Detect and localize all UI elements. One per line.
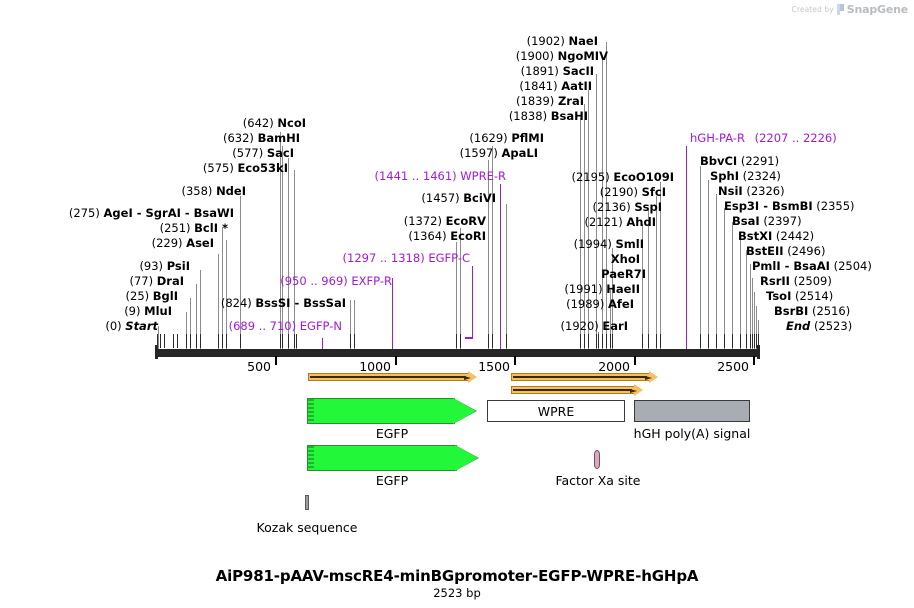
enzyme-label-esp3i-bsmbi: Esp3I - BsmBI (2355) xyxy=(724,200,855,212)
primer-tick-wpre-r xyxy=(500,184,501,356)
primer-label-egfp-c: (1297 .. 1318) EGFP-C xyxy=(343,252,470,264)
enzyme-label-zrai: (1839) ZraI xyxy=(516,95,584,107)
snapgene-watermark: Created by SnapGene xyxy=(792,3,909,16)
leader-line xyxy=(648,210,649,350)
feature-kozak-marker xyxy=(305,495,309,510)
enzyme-label-sspi: (2136) SspI xyxy=(592,201,662,213)
enzyme-label-sfci: (2190) SfcI xyxy=(600,186,666,198)
enzyme-label-bsai: BsaI (2397) xyxy=(732,215,802,227)
enzyme-label-bsrbi: BsrBI (2516) xyxy=(774,305,850,317)
enzyme-label-pmli-bsaai: PmlI - BsaAI (2504) xyxy=(752,260,872,272)
feature-factor-xa-marker xyxy=(594,450,600,469)
feature-label-hgh: hGH poly(A) signal xyxy=(622,426,762,441)
enzyme-label-paer7i: PaeR7I xyxy=(601,268,646,280)
primer-arrow-wpre-row-2 xyxy=(511,386,646,394)
leader-line xyxy=(724,208,725,350)
ruler-tick-1000 xyxy=(395,356,397,365)
ruler-label-1000: 1000 xyxy=(337,359,391,374)
enzyme-label-ncoi: (642) NcoI xyxy=(243,117,306,129)
primer-tick-egfp-c xyxy=(472,266,473,338)
enzyme-label-bstxi: BstXI (2442) xyxy=(738,230,814,242)
enzyme-label-bsahi: (1838) BsaHI xyxy=(509,110,588,122)
enzyme-label-ecorv: (1372) EcoRV xyxy=(404,215,486,227)
enzyme-label-ecoo109i: (2195) EcoO109I xyxy=(571,171,674,183)
enzyme-label-apali: (1597) ApaLI xyxy=(460,147,538,159)
leader-line xyxy=(732,222,733,350)
primer-label-wpre-r: (1441 .. 1461) WPRE-R xyxy=(375,170,507,182)
leader-line xyxy=(488,160,489,350)
leader-line xyxy=(700,166,701,350)
enzyme-label-pflmi: (1629) PflMI xyxy=(469,132,544,144)
watermark-brand: SnapGene xyxy=(847,3,908,16)
feature-egfp-arrow-row1 xyxy=(307,398,477,424)
enzyme-label-mlui: (9) MluI xyxy=(124,305,172,317)
enzyme-label-asei: (229) AseI xyxy=(152,237,214,249)
enzyme-label-ecori: (1364) EcoRI xyxy=(408,230,486,242)
ruler-tick-500 xyxy=(275,356,277,365)
leader-line xyxy=(580,118,581,350)
enzyme-label-psii: (93) PsiI xyxy=(139,260,190,272)
enzyme-label-nsii: NsiI (2326) xyxy=(718,185,785,197)
primer-tick-hgh-pa-r xyxy=(686,146,687,356)
leader-line xyxy=(506,204,507,350)
primer-label-hgh-pa-r: hGH-PA-R (2207 .. 2226) xyxy=(690,132,837,144)
watermark-created-by: Created by xyxy=(792,5,834,14)
leader-line xyxy=(460,228,461,350)
feature-label-egfp-row2: EGFP xyxy=(337,473,447,488)
feature-wpre-box: WPRE xyxy=(487,400,625,422)
backbone-line xyxy=(155,351,760,357)
feature-hgh-box xyxy=(634,400,750,422)
page-title: AiP981-pAAV-mscRE4-minBGpromoter-EGFP-WP… xyxy=(0,567,914,585)
ruler-tick-1500 xyxy=(514,356,516,365)
enzyme-label-haeii: (1991) HaeII xyxy=(564,283,640,295)
enzyme-label-ndei: (358) NdeI xyxy=(181,185,246,197)
primer-arrow-egfp-row xyxy=(308,373,480,381)
leader-line xyxy=(708,180,709,350)
enzyme-label-ahdi: (2121) AhdI xyxy=(584,216,656,228)
feature-label-kozak: Kozak sequence xyxy=(237,520,377,535)
enzyme-label-start: (0) Start xyxy=(105,320,158,332)
enzyme-label-naei: (1902) NaeI xyxy=(527,35,598,47)
primer-arrow-wpre-row-1 xyxy=(511,373,661,381)
ruler-tick-2000 xyxy=(634,356,636,365)
primer-tick-egfp-c-b xyxy=(465,337,473,339)
enzyme-label-end: End (2523) xyxy=(786,320,852,332)
enzyme-label-tsoi: TsoI (2514) xyxy=(766,290,833,302)
enzyme-label-bamhi: (632) BamHI xyxy=(223,132,300,144)
enzyme-label-bcivi: (1457) BciVI xyxy=(421,192,496,204)
feature-egfp-arrow-row2 xyxy=(307,445,479,471)
enzyme-label-smli: (1994) SmlI xyxy=(574,238,644,250)
enzyme-label-drai: (77) DraI xyxy=(129,275,184,287)
enzyme-label-bsteii: BstEII (2496) xyxy=(746,245,825,257)
enzyme-label-aatii: (1841) AatII xyxy=(519,80,592,92)
enzyme-label-bcli: (251) BclI * xyxy=(160,222,228,234)
enzyme-label-rsrii: RsrII (2509) xyxy=(760,275,832,287)
enzyme-label-agei-sgrai-bsawi: (275) AgeI - SgrAI - BsaWI xyxy=(69,207,234,219)
leader-line xyxy=(716,194,717,350)
enzyme-label-sphi: SphI (2324) xyxy=(710,170,781,182)
leader-line xyxy=(656,196,657,350)
enzyme-label-xhoi: XhoI xyxy=(611,253,640,265)
ruler-label-2500: 2500 xyxy=(695,359,749,374)
page-subtitle: 2523 bp xyxy=(0,586,914,600)
leader-line xyxy=(740,236,741,350)
enzyme-label-saci: (577) SacI xyxy=(232,147,294,159)
feature-label-factor-xa: Factor Xa site xyxy=(528,473,668,488)
ruler-label-1500: 1500 xyxy=(456,359,510,374)
primer-label-exfp-r: (950 .. 969) EXFP-R xyxy=(280,275,392,287)
enzyme-label-eco53ki: (575) Eco53kI xyxy=(203,162,288,174)
ruler-tick-2500 xyxy=(753,356,755,365)
enzyme-label-bgli: (25) BglI xyxy=(126,290,178,302)
feature-label-egfp-row1: EGFP xyxy=(337,426,447,441)
leader-line xyxy=(158,326,159,350)
primer-tick-exfp-r xyxy=(392,278,393,356)
ruler-label-500: 500 xyxy=(225,359,271,374)
enzyme-label-sacii: (1891) SacII xyxy=(521,65,594,77)
ruler-label-2000: 2000 xyxy=(576,359,630,374)
primer-label-egfp-n: (689 .. 710) EGFP-N xyxy=(229,320,342,332)
enzyme-label-bsssi-bsssai: (824) BssSI - BssSaI xyxy=(221,297,346,309)
enzyme-label-eari: (1920) EarI xyxy=(561,320,628,332)
feature-label-wpre: WPRE xyxy=(538,404,574,419)
snapgene-flag-icon xyxy=(837,4,844,15)
enzyme-label-afei: (1989) AfeI xyxy=(566,298,634,310)
enzyme-label-ngomiv: (1900) NgoMIV xyxy=(516,50,608,62)
leader-line xyxy=(222,228,223,350)
enzyme-label-bbvci: BbvCI (2291) xyxy=(700,155,779,167)
